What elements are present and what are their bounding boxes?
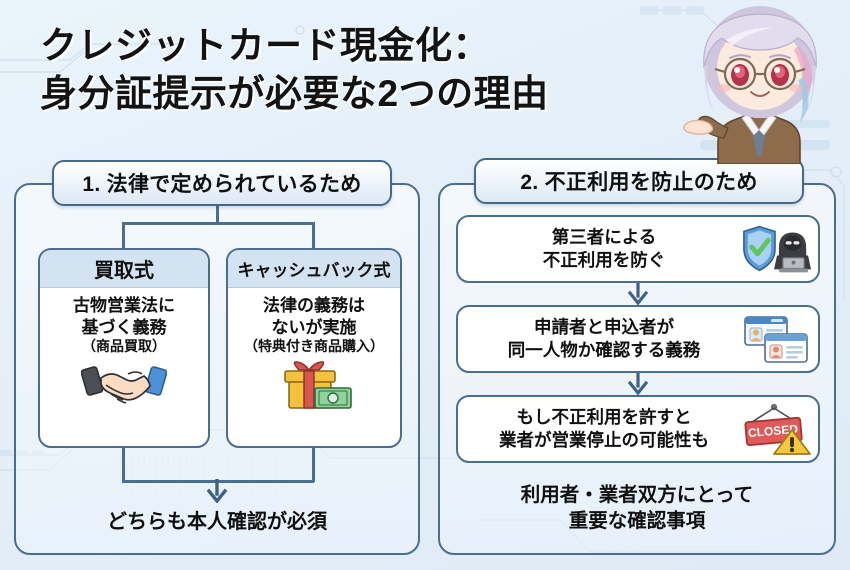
shield-hacker-icon [740,222,812,276]
reason-1-line-1: 第三者による [468,226,740,249]
left-connector-down-1 [122,448,125,482]
right-panel-footer: 利用者・業者双方にとって 重要な確認事項 [438,483,836,535]
right-footer-line-1: 利用者・業者双方にとって [438,483,836,509]
cashback-line-2: ないが実施 [272,317,357,339]
cashback-note: （特典付き商品購入） [244,338,384,356]
reason-1-line-2: 不正利用を防ぐ [468,249,740,272]
reason-box-2[interactable]: 申請者と申込者が 同一人物か確認する義務 [456,305,820,373]
method-card-kaitori-title: 買取式 [94,254,154,283]
left-panel-header: 1. 法律で定められているため [52,160,392,206]
reason-2-icon-wrap [740,313,812,365]
right-down-arrow-1-icon [627,283,649,305]
right-panel-header: 2. 不正利用を防止のため [474,158,804,204]
method-card-kaitori-body: 古物営業法に 基づく義務 （商品買取） [40,288,208,446]
reason-3-icon-wrap: CLOSED [740,402,812,456]
method-card-kaitori[interactable]: 買取式 古物営業法に 基づく義務 （商品買取） [38,248,210,448]
title-line-1: クレジットカード現金化： [40,22,680,70]
right-down-arrow-2-icon [627,373,649,395]
method-card-cashback-header: キャッシュバック式 [228,250,400,288]
kaitori-line-1: 古物営業法に [73,295,175,317]
kaitori-line-2: 基づく義務 [82,317,167,339]
reason-2-line-2: 同一人物か確認する義務 [468,339,740,362]
method-card-cashback-title: キャッシュバック式 [238,256,391,281]
handshake-icon [81,360,167,410]
reason-1-icon-wrap [740,222,812,276]
reason-3-text: もし不正利用を許すと 業者が営業停止の可能性も [468,406,740,452]
right-footer-line-2: 重要な確認事項 [438,509,836,535]
reason-1-text: 第三者による 不正利用を防ぐ [468,226,740,272]
left-connector-crossbar [122,222,314,225]
method-card-cashback[interactable]: キャッシュバック式 法律の義務は ないが実施 （特典付き商品購入） [226,248,402,448]
reason-box-3[interactable]: もし不正利用を許すと 業者が営業停止の可能性も CLOSED [456,395,820,463]
left-connector-branch-1 [122,222,125,248]
right-panel-header-label: 2. 不正利用を防止のため [520,166,757,196]
gift-money-icon [271,360,357,410]
left-panel-footer: どちらも本人確認が必須 [14,505,420,534]
reason-2-text: 申請者と申込者が 同一人物か確認する義務 [468,316,740,362]
method-card-kaitori-header: 買取式 [40,250,208,288]
cashback-line-1: 法律の義務は [263,295,365,317]
reason-3-line-1: もし不正利用を許すと [468,406,740,429]
left-down-arrow-icon [206,479,228,503]
id-cards-icon [741,313,811,365]
left-connector-branch-2 [312,222,315,248]
title-line-2: 身分証提示が必要な2つの理由 [40,70,680,118]
closed-sign-warning-icon: CLOSED [740,402,812,456]
reason-box-1[interactable]: 第三者による 不正利用を防ぐ [456,215,820,283]
left-connector-down-2 [312,448,315,482]
reason-3-line-2: 業者が営業停止の可能性も [468,429,740,452]
page-title: クレジットカード現金化： 身分証提示が必要な2つの理由 [40,22,680,118]
method-card-cashback-body: 法律の義務は ないが実施 （特典付き商品購入） [228,288,400,446]
reason-2-line-1: 申請者と申込者が [468,316,740,339]
kaitori-note: （商品買取） [82,338,166,356]
chibi-advisor-character [666,0,842,164]
left-panel-header-label: 1. 法律で定められているため [82,168,361,198]
